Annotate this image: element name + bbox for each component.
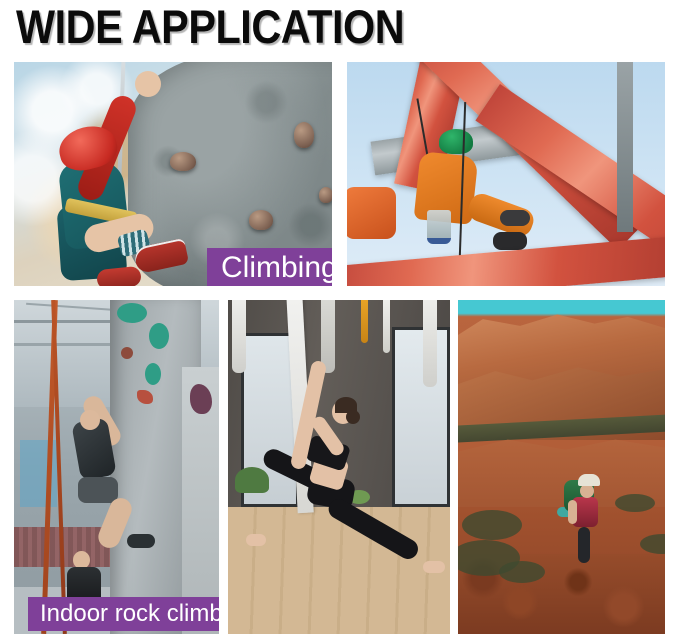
climbing-hold-icon xyxy=(249,210,273,230)
tile-hiking[interactable]: Hiking xyxy=(458,300,665,634)
tile-climbing[interactable]: Climbing xyxy=(14,62,332,286)
wooden-floor xyxy=(228,507,450,634)
tile-protect[interactable]: Protect xyxy=(347,62,665,286)
photo-hiking xyxy=(458,300,665,634)
gallery-row-2: Indoor rock climbing xyxy=(0,300,679,634)
hiker-leg xyxy=(578,527,590,563)
tile-indoor-rock-climbing[interactable]: Indoor rock climbing xyxy=(14,300,219,634)
hard-hat-icon xyxy=(439,129,473,154)
potted-plant xyxy=(235,467,269,493)
second-worker xyxy=(347,187,396,239)
paint-bucket xyxy=(427,210,451,244)
caption-indoor-rock-climbing: Indoor rock climbing xyxy=(28,597,219,631)
desert-scrub xyxy=(499,561,545,583)
yogi-foot xyxy=(423,561,445,573)
hiker-cap xyxy=(578,474,600,486)
climbing-hold-icon xyxy=(294,122,314,148)
climber-hand xyxy=(135,71,161,97)
hiker-head xyxy=(580,484,594,498)
hiker-arm xyxy=(568,500,577,524)
photo-aerial-yoga xyxy=(228,300,450,634)
climbing-hold-icon xyxy=(319,187,332,203)
steel-post xyxy=(617,62,633,232)
yogi-foot xyxy=(246,534,266,546)
yogi-hair-bun xyxy=(346,410,360,424)
hanging-strap xyxy=(383,300,390,353)
climber-shoe xyxy=(96,266,142,286)
wide-application-poster: WIDE APPLICATION Climbi xyxy=(0,0,679,634)
desert-scrub xyxy=(615,494,655,512)
worker-boot xyxy=(500,210,530,226)
tile-aerial-yoga[interactable]: Aerial Yoga xyxy=(228,300,450,634)
climber-shoe xyxy=(127,534,155,548)
photo-indoor-rock-climbing xyxy=(14,300,219,634)
climbing-hold-icon xyxy=(117,303,147,323)
climbing-hold-icon xyxy=(121,347,133,359)
climbing-hold-icon xyxy=(170,152,196,171)
worker-boot xyxy=(493,232,527,250)
hanging-strap xyxy=(361,300,368,343)
page-title: WIDE APPLICATION xyxy=(16,0,404,56)
gallery-row-1: Climbing Protect xyxy=(0,62,679,286)
belayer-head xyxy=(73,551,90,569)
hanging-silk xyxy=(423,300,437,387)
studio-window xyxy=(392,327,450,507)
hanging-silk xyxy=(232,300,246,373)
caption-climbing: Climbing xyxy=(207,248,332,286)
photo-protect xyxy=(347,62,665,286)
climber-shorts xyxy=(78,477,118,503)
climber-head xyxy=(80,410,100,430)
